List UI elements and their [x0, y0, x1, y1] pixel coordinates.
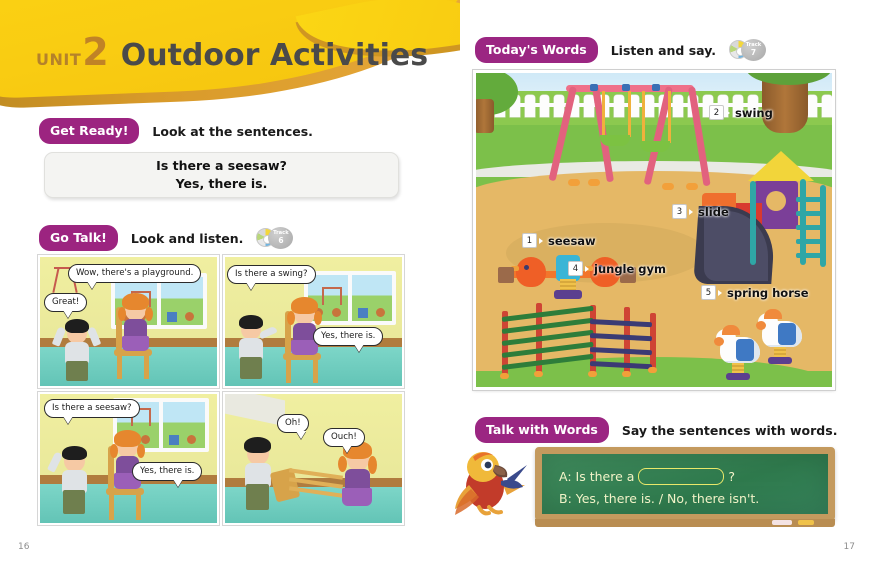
comic-panel-1[interactable]: Wow, there's a playground. Great!	[38, 255, 219, 388]
speech-bubble-1: Is there a seesaw?	[44, 399, 140, 418]
talk-with-words-header: Talk with Words Say the sentences with w…	[475, 417, 837, 443]
textbook-spread: UNIT 2 Outdoor Activities Get Ready! Loo…	[0, 0, 873, 566]
comic-panel-3[interactable]: Is there a seesaw? Yes, there is.	[38, 392, 219, 525]
chair-leg-2	[313, 359, 318, 383]
label-number: 2	[709, 105, 724, 120]
speech-bubble-1: Wow, there's a playground.	[68, 264, 201, 283]
boy-character	[56, 313, 98, 383]
jungle-gym-equipment	[498, 301, 678, 377]
label-number: 5	[701, 285, 716, 300]
label-text: swing	[735, 106, 773, 120]
sentence-line-1: Is there a seesaw?	[156, 157, 287, 175]
comic-panel-2[interactable]: Is there a swing? Yes, there is.	[223, 255, 404, 388]
blackboard-surface: A: Is there a ? B: Yes, there is. / No, …	[535, 447, 835, 521]
blackboard[interactable]: A: Is there a ? B: Yes, there is. / No, …	[535, 447, 835, 521]
cd-track-icon[interactable]: Track 7	[729, 39, 769, 61]
label-arrow-icon	[539, 238, 543, 244]
label-number: 1	[522, 233, 537, 248]
go-talk-badge[interactable]: Go Talk!	[39, 225, 118, 251]
talk-with-words-badge[interactable]: Talk with Words	[475, 417, 609, 443]
label-arrow-icon	[726, 110, 730, 116]
track-number: 7	[751, 49, 756, 58]
label-number: 3	[672, 204, 687, 219]
get-ready-instruction: Look at the sentences.	[152, 124, 313, 139]
answer-blank[interactable]	[638, 468, 724, 485]
right-page: Today's Words Listen and say. Track 7	[437, 0, 873, 566]
get-ready-header: Get Ready! Look at the sentences.	[39, 118, 313, 144]
label-arrow-icon	[718, 290, 722, 296]
word-label-5[interactable]: 5 spring horse	[701, 285, 809, 300]
word-label-3[interactable]: 3 slide	[672, 204, 729, 219]
todays-words-badge[interactable]: Today's Words	[475, 37, 598, 63]
cd-track-icon[interactable]: Track 6	[256, 227, 296, 249]
speech-bubble-1: Is there a swing?	[227, 265, 316, 284]
board-line-a-prefix: A: Is there a	[559, 469, 634, 484]
girl-character	[283, 295, 325, 355]
track-number: 6	[278, 237, 283, 246]
talk-with-words-instruction: Say the sentences with words.	[622, 423, 838, 438]
left-page: UNIT 2 Outdoor Activities Get Ready! Loo…	[0, 0, 437, 566]
unit-heading: UNIT 2 Outdoor Activities	[36, 33, 428, 73]
unit-number: 2	[82, 33, 108, 71]
get-ready-badge[interactable]: Get Ready!	[39, 118, 139, 144]
chair-leg-2	[144, 355, 149, 379]
label-text: spring horse	[727, 286, 809, 300]
chair-leg-1	[109, 494, 114, 520]
tree-left-icon	[473, 75, 524, 133]
boy-character	[54, 438, 96, 516]
word-label-2[interactable]: 2 swing	[709, 105, 773, 120]
speech-bubble-2: Yes, there is.	[313, 327, 383, 346]
label-arrow-icon	[689, 209, 693, 215]
chalk-white-icon	[772, 520, 792, 525]
page-number-left: 16	[18, 542, 29, 552]
page-title: Outdoor Activities	[121, 38, 428, 73]
chair-leg-1	[117, 355, 122, 379]
speech-bubble-2: Ouch!	[323, 428, 365, 447]
label-text: seesaw	[548, 234, 596, 248]
go-talk-header: Go Talk! Look and listen. Track 6	[39, 225, 296, 251]
chair-leg-2	[136, 494, 141, 520]
fallen-chair-icon	[273, 468, 343, 502]
sentence-line-2: Yes, there is.	[176, 175, 268, 193]
speech-bubble-2: Great!	[44, 293, 87, 312]
page-number-right: 17	[844, 542, 855, 552]
speech-bubble-2: Yes, there is.	[132, 462, 202, 481]
track-badge: Track 7	[741, 39, 766, 61]
board-line-a-suffix: ?	[728, 469, 735, 484]
todays-words-header: Today's Words Listen and say. Track 7	[475, 37, 769, 63]
speech-bubble-1: Oh!	[277, 414, 309, 433]
slide-equipment	[696, 151, 826, 291]
comic-panel-4[interactable]: Oh! Ouch!	[223, 392, 404, 525]
word-label-4[interactable]: 4 jungle gym	[568, 261, 666, 276]
boy-character	[231, 307, 273, 381]
unit-banner: UNIT 2 Outdoor Activities	[0, 0, 460, 108]
parrot-icon	[449, 445, 529, 521]
chalk-yellow-icon	[798, 520, 814, 525]
label-text: slide	[698, 205, 729, 219]
playground-illustration[interactable]: 1 seesaw 2 swing 3 slide 4 jungle gym 5	[473, 70, 835, 390]
sentence-box: Is there a seesaw? Yes, there is.	[44, 152, 399, 198]
board-line-b: B: Yes, there is. / No, there isn't.	[559, 491, 759, 506]
track-badge: Track 6	[268, 227, 293, 249]
word-label-1[interactable]: 1 seesaw	[522, 233, 596, 248]
go-talk-instruction: Look and listen.	[131, 231, 244, 246]
unit-word: UNIT	[36, 50, 81, 69]
chair-leg-1	[286, 359, 291, 383]
spring-horse-equipment	[716, 311, 820, 383]
swing-equipment	[562, 79, 698, 187]
label-text: jungle gym	[594, 262, 666, 276]
board-line-a: A: Is there a ?	[559, 468, 735, 485]
comic-strip: Wow, there's a playground. Great!	[38, 255, 404, 527]
label-arrow-icon	[585, 266, 589, 272]
label-number: 4	[568, 261, 583, 276]
girl-character	[114, 291, 156, 351]
todays-words-instruction: Listen and say.	[611, 43, 716, 58]
